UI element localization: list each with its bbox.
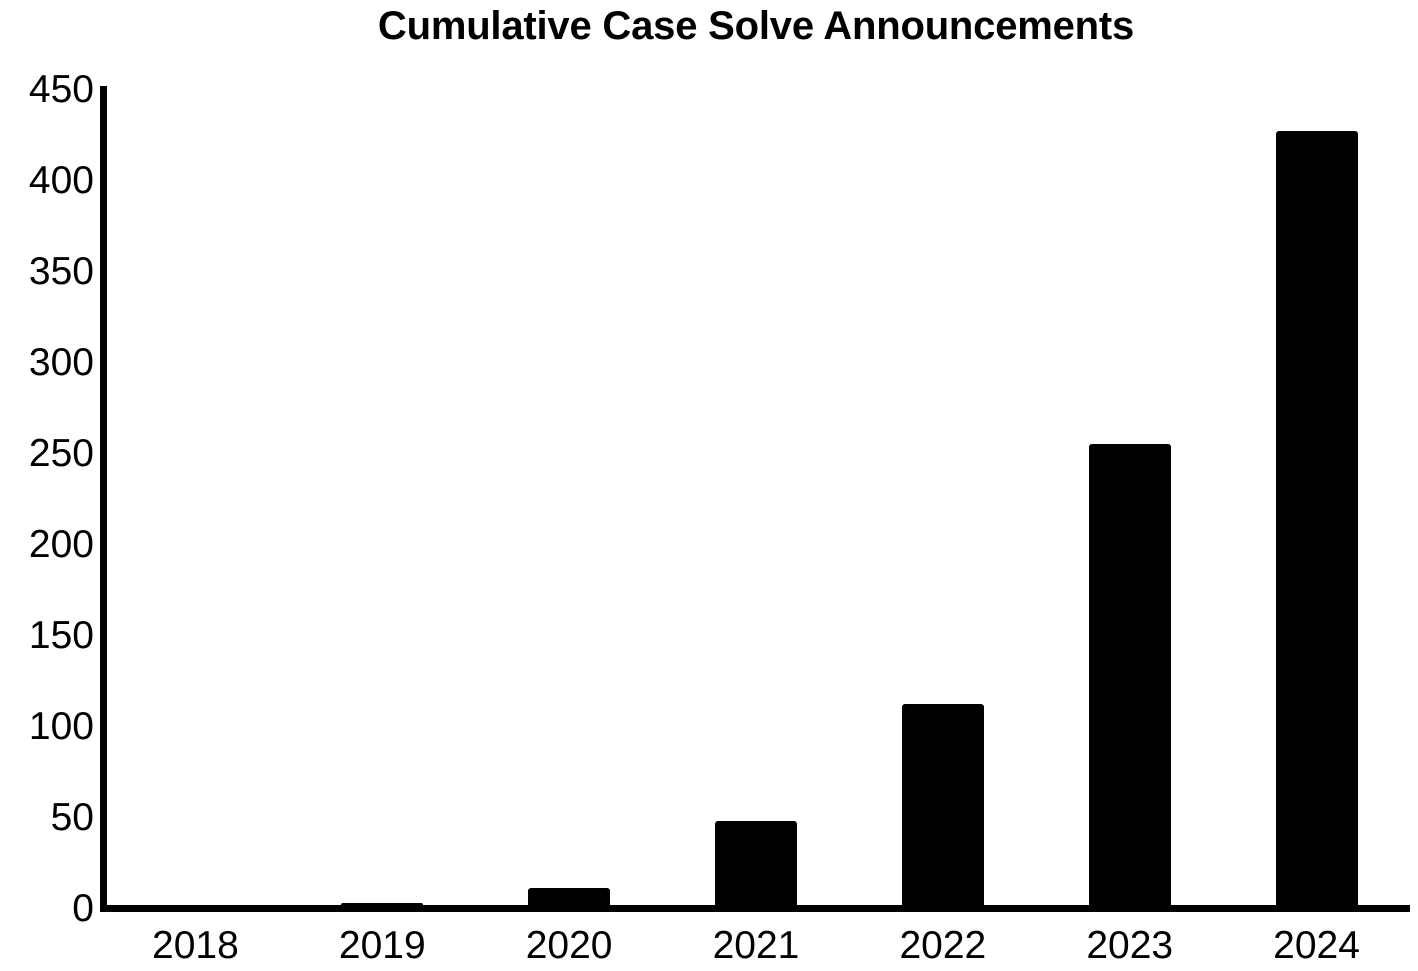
chart-title: Cumulative Case Solve Announcements	[102, 0, 1410, 60]
plot-area	[102, 89, 1410, 908]
y-axis-tick-label: 300	[2, 343, 94, 382]
bar[interactable]	[1089, 444, 1171, 908]
bar-chart: Cumulative Case Solve Announcements 0501…	[0, 0, 1418, 971]
bar[interactable]	[1276, 131, 1358, 908]
bar-group	[476, 89, 663, 908]
x-axis-tick-label: 2024	[1223, 924, 1410, 968]
y-axis-tick-label: 350	[2, 252, 94, 291]
x-axis-tick-label: 2021	[663, 924, 850, 968]
x-axis-tick-label: 2023	[1036, 924, 1223, 968]
y-axis-tick-label: 450	[2, 70, 94, 109]
y-axis-tick-label: 50	[2, 798, 94, 837]
bar[interactable]	[715, 821, 797, 908]
y-axis-tick-label: 250	[2, 434, 94, 473]
bar[interactable]	[528, 888, 610, 908]
x-axis-tick-label: 2018	[102, 924, 289, 968]
bar-group	[102, 89, 289, 908]
bar-group	[1036, 89, 1223, 908]
x-axis-tick-label: 2020	[476, 924, 663, 968]
y-axis-tick-label: 150	[2, 616, 94, 655]
bar-group	[849, 89, 1036, 908]
y-axis-tick-labels: 050100150200250300350400450	[0, 0, 94, 971]
bar-group	[289, 89, 476, 908]
x-axis-tick-label: 2022	[849, 924, 1036, 968]
bar[interactable]	[902, 704, 984, 908]
bar-group	[663, 89, 850, 908]
x-axis-tick-labels: 2018201920202021202220232024	[102, 924, 1410, 971]
y-axis-tick-label: 100	[2, 707, 94, 746]
x-axis-tick-label: 2019	[289, 924, 476, 968]
y-axis-tick-label: 0	[2, 889, 94, 928]
bar-group	[1223, 89, 1410, 908]
y-axis-tick-label: 400	[2, 161, 94, 200]
y-axis-tick-label: 200	[2, 525, 94, 564]
bar[interactable]	[341, 903, 423, 908]
